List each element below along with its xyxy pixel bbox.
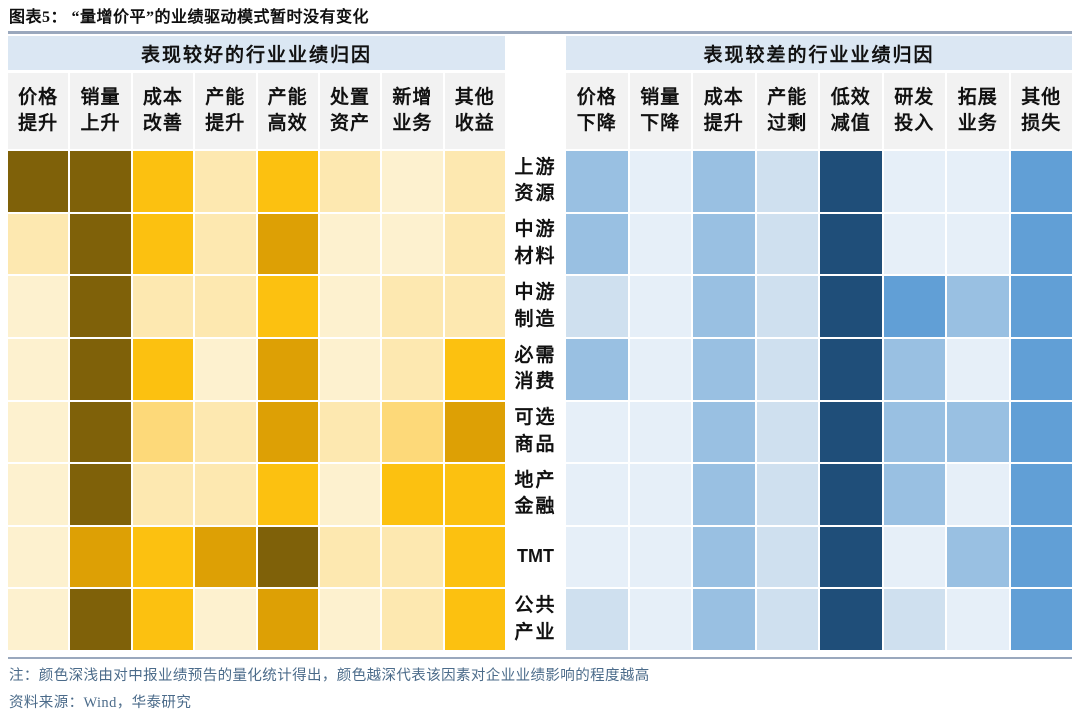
heatmap-cell bbox=[258, 276, 318, 337]
heatmap-cell bbox=[70, 151, 130, 212]
heatmap-cell bbox=[195, 527, 255, 588]
heatmap-cell bbox=[70, 214, 130, 275]
row-label: 中游制造 bbox=[505, 276, 566, 337]
panel-poor-grid bbox=[566, 151, 1072, 650]
heatmap-row bbox=[566, 464, 1072, 525]
heatmap-cell bbox=[566, 339, 628, 400]
heatmap-cell bbox=[195, 402, 255, 463]
heatmap-cell bbox=[820, 402, 882, 463]
heatmap-cell bbox=[8, 339, 68, 400]
column-header-line1: 价格 bbox=[577, 85, 617, 111]
column-header: 新增业务 bbox=[382, 73, 442, 149]
heatmap-cell bbox=[195, 464, 255, 525]
heatmap-cell bbox=[382, 527, 442, 588]
heatmap-cell bbox=[258, 214, 318, 275]
heatmap-cell bbox=[445, 214, 505, 275]
heatmap-cell bbox=[133, 402, 193, 463]
column-header: 成本提升 bbox=[693, 73, 755, 149]
heatmap-row bbox=[566, 214, 1072, 275]
heatmap-cell bbox=[1011, 151, 1073, 212]
heatmap-row bbox=[8, 214, 505, 275]
footer-divider bbox=[8, 657, 1072, 659]
heatmap-row bbox=[566, 527, 1072, 588]
heatmap-cell bbox=[693, 339, 755, 400]
footer-source: 资料来源：Wind，华泰研究 bbox=[9, 691, 191, 712]
heatmap-cell bbox=[133, 339, 193, 400]
heatmap-cell bbox=[382, 339, 442, 400]
column-header: 其他收益 bbox=[445, 73, 505, 149]
heatmap-cell bbox=[757, 339, 819, 400]
heatmap-cell bbox=[133, 589, 193, 650]
panel-good-title: 表现较好的行业业绩归因 bbox=[8, 36, 505, 70]
heatmap-cell bbox=[820, 464, 882, 525]
heatmap-cell bbox=[947, 276, 1009, 337]
heatmap-cell bbox=[1011, 464, 1073, 525]
heatmap-cell bbox=[195, 339, 255, 400]
footer-note: 注：颜色深浅由对中报业绩预告的量化统计得出，颜色越深代表该因素对企业业绩影响的程… bbox=[9, 664, 650, 685]
column-header: 产能过剩 bbox=[757, 73, 819, 149]
heatmap-cell bbox=[630, 339, 692, 400]
row-label-text: 上游 bbox=[514, 155, 556, 182]
heatmap-cell bbox=[757, 151, 819, 212]
heatmap-cell bbox=[258, 151, 318, 212]
heatmap-cell bbox=[947, 464, 1009, 525]
heatmap-cell bbox=[820, 214, 882, 275]
column-header-line2: 提升 bbox=[18, 111, 58, 137]
heatmap-cell bbox=[820, 276, 882, 337]
heatmap-cell bbox=[70, 276, 130, 337]
column-header-line2: 提升 bbox=[205, 111, 245, 137]
column-header-line1: 销量 bbox=[640, 85, 680, 111]
heatmap-cell bbox=[133, 464, 193, 525]
heatmap-cell bbox=[1011, 402, 1073, 463]
row-label-text: 地产 bbox=[514, 468, 556, 495]
row-label-text: 必需 bbox=[514, 343, 556, 370]
column-header-line2: 改善 bbox=[143, 111, 183, 137]
heatmap-row bbox=[8, 276, 505, 337]
heatmap-cell bbox=[382, 402, 442, 463]
heatmap-cell bbox=[820, 527, 882, 588]
heatmap-cell bbox=[1011, 214, 1073, 275]
heatmap-cell bbox=[884, 464, 946, 525]
row-label-column: 上游资源中游材料中游制造必需消费可选商品地产金融TMT公共产业 bbox=[505, 36, 566, 650]
heatmap-cell bbox=[884, 151, 946, 212]
heatmap-cell bbox=[693, 464, 755, 525]
column-header-line2: 业务 bbox=[392, 111, 432, 137]
heatmap-cell bbox=[133, 527, 193, 588]
column-header-line1: 价格 bbox=[18, 85, 58, 111]
column-header-line1: 其他 bbox=[1021, 85, 1061, 111]
column-header-line2: 下降 bbox=[577, 111, 617, 137]
heatmap-cell bbox=[947, 589, 1009, 650]
column-header: 研发投入 bbox=[884, 73, 946, 149]
heatmap-cell bbox=[630, 589, 692, 650]
row-label-text: 制造 bbox=[514, 307, 556, 334]
heatmap-cell bbox=[320, 527, 380, 588]
row-label-text: 材料 bbox=[514, 244, 556, 271]
column-header-line1: 销量 bbox=[81, 85, 121, 111]
heatmap-cell bbox=[445, 402, 505, 463]
heatmap-cell bbox=[1011, 527, 1073, 588]
heatmap-cell bbox=[8, 464, 68, 525]
column-header-line2: 业务 bbox=[958, 111, 998, 137]
column-header: 成本改善 bbox=[133, 73, 193, 149]
row-label-text: 资源 bbox=[514, 181, 556, 208]
row-label-spacer-top bbox=[505, 36, 566, 70]
panel-poor-title: 表现较差的行业业绩归因 bbox=[566, 36, 1072, 70]
heatmap-cell bbox=[630, 276, 692, 337]
column-header: 处置资产 bbox=[320, 73, 380, 149]
row-label-text: 商品 bbox=[514, 432, 556, 459]
heatmap-row bbox=[8, 339, 505, 400]
panel-poor-column-headers: 价格下降销量下降成本提升产能过剩低效减值研发投入拓展业务其他损失 bbox=[566, 73, 1072, 149]
heatmap-cell bbox=[820, 151, 882, 212]
heatmap-cell bbox=[382, 589, 442, 650]
column-header: 价格提升 bbox=[8, 73, 68, 149]
heatmap-cell bbox=[693, 276, 755, 337]
column-header-line1: 产能 bbox=[268, 85, 308, 111]
heatmap-cell bbox=[757, 276, 819, 337]
heatmap-cell bbox=[884, 214, 946, 275]
row-label-text: 消费 bbox=[514, 369, 556, 396]
heatmap-cell bbox=[70, 527, 130, 588]
heatmap-cell bbox=[693, 151, 755, 212]
column-header-line2: 上升 bbox=[81, 111, 121, 137]
panel-good-grid bbox=[8, 151, 505, 650]
heatmap-cell bbox=[820, 589, 882, 650]
column-header-line2: 投入 bbox=[894, 111, 934, 137]
heatmap-cell bbox=[195, 151, 255, 212]
column-header: 产能高效 bbox=[258, 73, 318, 149]
heatmap-cell bbox=[445, 339, 505, 400]
heatmap-cell bbox=[445, 464, 505, 525]
heatmap-cell bbox=[382, 214, 442, 275]
heatmap-cell bbox=[757, 527, 819, 588]
heatmap-cell bbox=[445, 527, 505, 588]
heatmap-cell bbox=[566, 276, 628, 337]
column-header-line1: 产能 bbox=[767, 85, 807, 111]
column-header-line1: 研发 bbox=[894, 85, 934, 111]
heatmap-row bbox=[566, 151, 1072, 212]
column-header-line2: 过剩 bbox=[767, 111, 807, 137]
column-header: 销量上升 bbox=[70, 73, 130, 149]
heatmap-cell bbox=[1011, 589, 1073, 650]
column-header: 产能提升 bbox=[195, 73, 255, 149]
title-divider bbox=[8, 31, 1072, 34]
row-label-text: 可选 bbox=[514, 405, 556, 432]
row-label: 中游材料 bbox=[505, 214, 566, 275]
heatmap-cell bbox=[320, 214, 380, 275]
heatmap-cell bbox=[884, 527, 946, 588]
heatmap-row bbox=[8, 464, 505, 525]
row-label-text: 中游 bbox=[514, 217, 556, 244]
heatmap-cell bbox=[320, 151, 380, 212]
heatmap-cell bbox=[70, 589, 130, 650]
heatmap-cell bbox=[8, 589, 68, 650]
heatmap-cell bbox=[195, 589, 255, 650]
heatmap-cell bbox=[70, 339, 130, 400]
heatmap-cell bbox=[693, 527, 755, 588]
row-label-text: 公共 bbox=[514, 593, 556, 620]
heatmap-figure: 表现较好的行业业绩归因 价格提升销量上升成本改善产能提升产能高效处置资产新增业务… bbox=[8, 36, 1072, 650]
heatmap-cell bbox=[320, 589, 380, 650]
row-label-text: 金融 bbox=[514, 494, 556, 521]
column-header: 销量下降 bbox=[630, 73, 692, 149]
heatmap-cell bbox=[8, 276, 68, 337]
row-labels: 上游资源中游材料中游制造必需消费可选商品地产金融TMT公共产业 bbox=[505, 151, 566, 650]
column-header-line2: 减值 bbox=[831, 111, 871, 137]
row-label-text: 中游 bbox=[514, 280, 556, 307]
heatmap-row bbox=[8, 402, 505, 463]
heatmap-row bbox=[8, 151, 505, 212]
heatmap-cell bbox=[757, 464, 819, 525]
row-label: 公共产业 bbox=[505, 589, 566, 650]
column-header-line1: 其他 bbox=[455, 85, 495, 111]
heatmap-cell bbox=[320, 276, 380, 337]
heatmap-cell bbox=[630, 214, 692, 275]
heatmap-cell bbox=[884, 276, 946, 337]
heatmap-cell bbox=[947, 402, 1009, 463]
heatmap-cell bbox=[445, 589, 505, 650]
column-header-line1: 新增 bbox=[392, 85, 432, 111]
figure-page: 图表5： “量增价平”的业绩驱动模式暂时没有变化 表现较好的行业业绩归因 价格提… bbox=[0, 0, 1080, 718]
heatmap-row bbox=[8, 589, 505, 650]
heatmap-cell bbox=[566, 402, 628, 463]
heatmap-cell bbox=[947, 527, 1009, 588]
heatmap-cell bbox=[133, 276, 193, 337]
heatmap-cell bbox=[445, 276, 505, 337]
column-header-line1: 拓展 bbox=[958, 85, 998, 111]
row-label: 必需消费 bbox=[505, 339, 566, 400]
heatmap-cell bbox=[320, 464, 380, 525]
column-header-line1: 处置 bbox=[330, 85, 370, 111]
heatmap-cell bbox=[8, 402, 68, 463]
heatmap-cell bbox=[445, 151, 505, 212]
heatmap-cell bbox=[630, 464, 692, 525]
heatmap-cell bbox=[8, 214, 68, 275]
heatmap-cell bbox=[884, 339, 946, 400]
heatmap-row bbox=[8, 527, 505, 588]
heatmap-cell bbox=[693, 402, 755, 463]
heatmap-cell bbox=[1011, 276, 1073, 337]
heatmap-cell bbox=[70, 464, 130, 525]
panel-poor-performance: 表现较差的行业业绩归因 价格下降销量下降成本提升产能过剩低效减值研发投入拓展业务… bbox=[566, 36, 1072, 650]
heatmap-cell bbox=[566, 527, 628, 588]
panel-good-column-headers: 价格提升销量上升成本改善产能提升产能高效处置资产新增业务其他收益 bbox=[8, 73, 505, 149]
heatmap-cell bbox=[258, 527, 318, 588]
column-header-line1: 低效 bbox=[831, 85, 871, 111]
heatmap-cell bbox=[133, 214, 193, 275]
row-label: 地产金融 bbox=[505, 464, 566, 525]
heatmap-cell bbox=[757, 589, 819, 650]
heatmap-cell bbox=[947, 151, 1009, 212]
heatmap-cell bbox=[630, 151, 692, 212]
heatmap-cell bbox=[630, 527, 692, 588]
heatmap-cell bbox=[195, 214, 255, 275]
row-label-spacer-sub bbox=[505, 73, 566, 149]
heatmap-cell bbox=[630, 402, 692, 463]
column-header: 低效减值 bbox=[820, 73, 882, 149]
column-header-line2: 收益 bbox=[455, 111, 495, 137]
heatmap-row bbox=[566, 276, 1072, 337]
row-label: 上游资源 bbox=[505, 151, 566, 212]
column-header: 价格下降 bbox=[566, 73, 628, 149]
heatmap-cell bbox=[258, 402, 318, 463]
heatmap-cell bbox=[258, 339, 318, 400]
heatmap-cell bbox=[382, 276, 442, 337]
heatmap-cell bbox=[8, 527, 68, 588]
column-header-line1: 产能 bbox=[205, 85, 245, 111]
heatmap-row bbox=[566, 402, 1072, 463]
heatmap-cell bbox=[820, 339, 882, 400]
column-header-line2: 下降 bbox=[640, 111, 680, 137]
heatmap-cell bbox=[947, 339, 1009, 400]
heatmap-row bbox=[566, 339, 1072, 400]
heatmap-cell bbox=[884, 589, 946, 650]
heatmap-cell bbox=[757, 214, 819, 275]
row-label-text: 产业 bbox=[514, 620, 556, 647]
heatmap-cell bbox=[884, 402, 946, 463]
column-header-line2: 提升 bbox=[704, 111, 744, 137]
heatmap-cell bbox=[566, 151, 628, 212]
heatmap-cell bbox=[1011, 339, 1073, 400]
column-header: 其他损失 bbox=[1011, 73, 1073, 149]
heatmap-cell bbox=[566, 589, 628, 650]
heatmap-cell bbox=[70, 402, 130, 463]
panel-good-performance: 表现较好的行业业绩归因 价格提升销量上升成本改善产能提升产能高效处置资产新增业务… bbox=[8, 36, 505, 650]
column-header-line2: 高效 bbox=[268, 111, 308, 137]
heatmap-cell bbox=[382, 464, 442, 525]
heatmap-cell bbox=[566, 214, 628, 275]
heatmap-cell bbox=[693, 589, 755, 650]
heatmap-cell bbox=[757, 402, 819, 463]
column-header-line2: 资产 bbox=[330, 111, 370, 137]
row-label: 可选商品 bbox=[505, 402, 566, 463]
heatmap-cell bbox=[320, 339, 380, 400]
column-header: 拓展业务 bbox=[947, 73, 1009, 149]
row-label: TMT bbox=[505, 527, 566, 588]
column-header-line1: 成本 bbox=[143, 85, 183, 111]
column-header-line2: 损失 bbox=[1021, 111, 1061, 137]
page-title: 图表5： “量增价平”的业绩驱动模式暂时没有变化 bbox=[9, 3, 369, 27]
heatmap-cell bbox=[258, 464, 318, 525]
heatmap-cell bbox=[195, 276, 255, 337]
heatmap-cell bbox=[382, 151, 442, 212]
heatmap-cell bbox=[258, 589, 318, 650]
heatmap-cell bbox=[947, 214, 1009, 275]
heatmap-cell bbox=[693, 214, 755, 275]
heatmap-cell bbox=[8, 151, 68, 212]
row-label-text: TMT bbox=[517, 544, 554, 569]
heatmap-cell bbox=[566, 464, 628, 525]
heatmap-cell bbox=[320, 402, 380, 463]
heatmap-row bbox=[566, 589, 1072, 650]
heatmap-cell bbox=[133, 151, 193, 212]
column-header-line1: 成本 bbox=[704, 85, 744, 111]
